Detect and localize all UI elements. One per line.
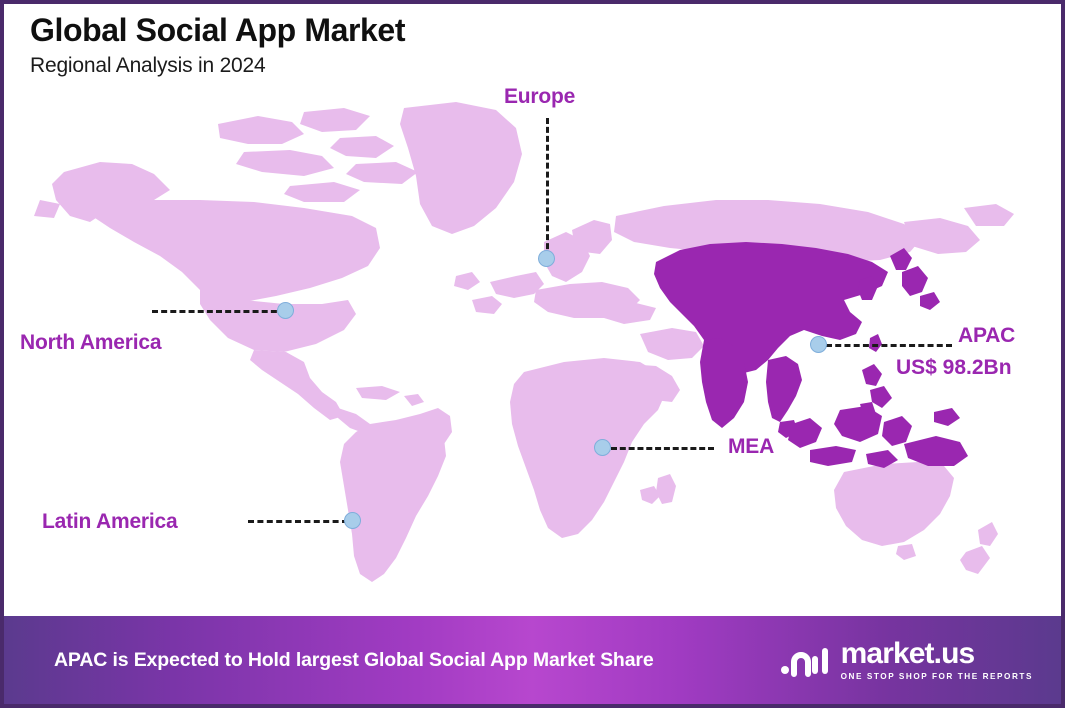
header: Global Social App Market Regional Analys…	[30, 12, 405, 78]
page-subtitle: Regional Analysis in 2024	[30, 54, 405, 78]
leader-line-north-america	[152, 310, 286, 313]
bottom-banner: APAC is Expected to Hold largest Global …	[4, 616, 1061, 704]
leader-line-europe	[546, 118, 549, 258]
brand-logo[interactable]: market.us ONE STOP SHOP FOR THE REPORTS	[780, 639, 1061, 681]
page-title: Global Social App Market	[30, 12, 405, 49]
marker-north-america[interactable]	[277, 302, 294, 319]
logo-name: market.us	[841, 639, 1033, 669]
leader-line-latin-america	[248, 520, 348, 523]
leader-line-apac	[826, 344, 952, 347]
logo-tagline: ONE STOP SHOP FOR THE REPORTS	[841, 672, 1033, 681]
marker-mea[interactable]	[594, 439, 611, 456]
apac-highlight-region	[654, 242, 968, 468]
signal-bars-icon	[780, 640, 832, 680]
region-label-europe[interactable]: Europe	[504, 85, 575, 109]
leader-line-mea	[611, 447, 714, 450]
marker-europe[interactable]	[538, 250, 555, 267]
logo-text-block: market.us ONE STOP SHOP FOR THE REPORTS	[841, 639, 1033, 681]
region-label-north-america[interactable]: North America	[20, 331, 161, 355]
region-label-mea[interactable]: MEA	[728, 435, 774, 459]
marker-latin-america[interactable]	[344, 512, 361, 529]
region-label-apac[interactable]: APAC	[958, 324, 1015, 348]
marker-apac[interactable]	[810, 336, 827, 353]
region-value-apac[interactable]: US$ 98.2Bn	[896, 356, 1012, 380]
region-label-latin-america[interactable]: Latin America	[42, 510, 178, 534]
base-landmasses	[34, 102, 1014, 582]
infographic-frame: Global Social App Market Regional Analys…	[0, 0, 1065, 708]
banner-headline: APAC is Expected to Hold largest Global …	[4, 646, 654, 674]
